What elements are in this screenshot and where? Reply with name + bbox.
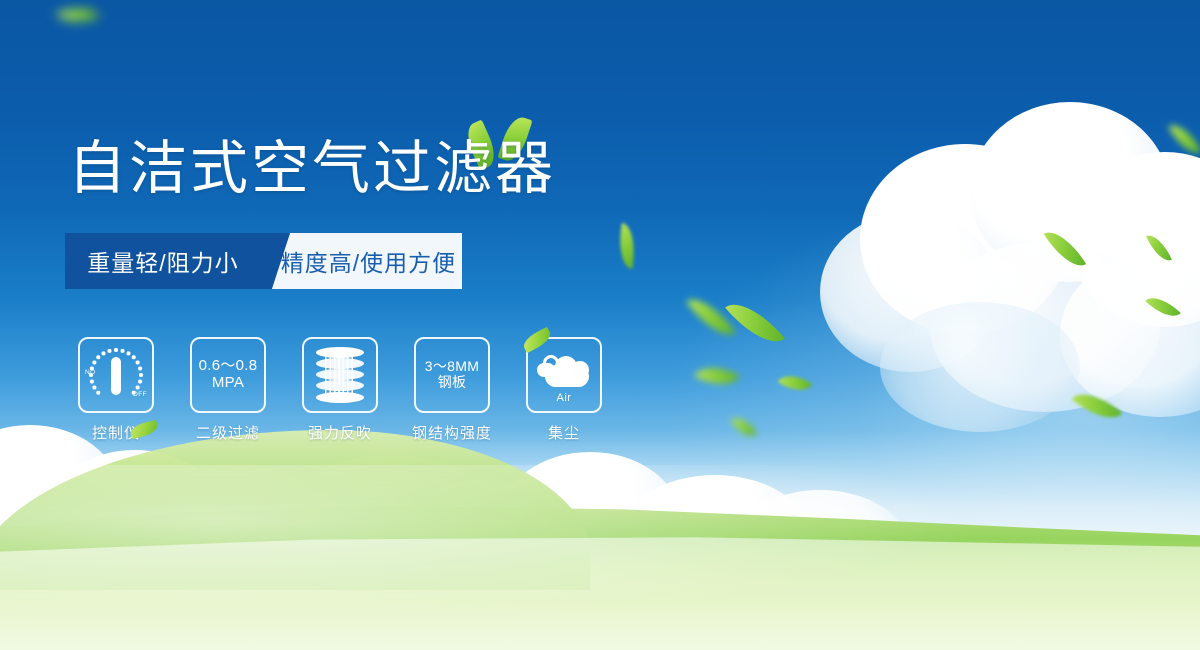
feature-item-pressure[interactable]: 0.6～0.8 MPA 二级过滤 xyxy=(190,337,266,443)
feature-item-dust[interactable]: Air 集尘 xyxy=(526,337,602,443)
subtitle-left-panel: 重量轻/阻力小 xyxy=(65,233,261,289)
feature-label: 强力反吹 xyxy=(308,422,372,443)
subtitle-left-text: 重量轻/阻力小 xyxy=(87,244,238,278)
feature-list: NO OFF 控制仪 0.6～0.8 MPA 二级过滤 xyxy=(78,337,602,443)
steel-material: 钢板 xyxy=(425,375,479,391)
grass-foreground xyxy=(0,530,1200,650)
pressure-text-icon: 0.6～0.8 MPA xyxy=(199,358,258,392)
subtitle-right-text: 精度高/使用方便 xyxy=(281,244,456,278)
steel-plate-text-icon: 3～8MM 钢板 xyxy=(425,359,479,390)
feature-label: 集尘 xyxy=(548,422,580,443)
feature-label: 二级过滤 xyxy=(196,422,260,443)
air-cloud-icon: Air xyxy=(535,349,593,401)
steel-thickness: 3～8MM xyxy=(425,359,479,375)
dial-off-label: OFF xyxy=(133,391,147,398)
feature-label: 钢结构强度 xyxy=(412,422,492,443)
page-title: 自洁式空气过滤器 xyxy=(68,140,556,198)
dial-needle xyxy=(111,357,121,395)
pressure-value: 0.6～0.8 xyxy=(199,358,258,375)
feature-icon-box: 3～8MM 钢板 xyxy=(414,337,490,413)
subtitle-right-panel: 精度高/使用方便 xyxy=(261,233,462,289)
filter-cartridge-icon xyxy=(316,347,364,403)
control-dial-icon: NO OFF xyxy=(86,345,146,405)
pressure-unit: MPA xyxy=(199,375,258,392)
cloud-body-shape xyxy=(545,365,589,387)
dial-on-label: NO xyxy=(85,369,96,376)
feature-icon-box: NO OFF xyxy=(78,337,154,413)
feature-item-backblow[interactable]: 强力反吹 xyxy=(302,337,378,443)
subtitle-bar: 重量轻/阻力小 精度高/使用方便 xyxy=(65,233,462,289)
feature-item-steel[interactable]: 3～8MM 钢板 钢结构强度 xyxy=(414,337,490,443)
air-label: Air xyxy=(535,392,593,404)
feature-icon-box: 0.6～0.8 MPA xyxy=(190,337,266,413)
product-banner: 自洁式空气过滤器 重量轻/阻力小 精度高/使用方便 xyxy=(0,0,1200,650)
feature-icon-box: Air xyxy=(526,337,602,413)
feature-icon-box xyxy=(302,337,378,413)
